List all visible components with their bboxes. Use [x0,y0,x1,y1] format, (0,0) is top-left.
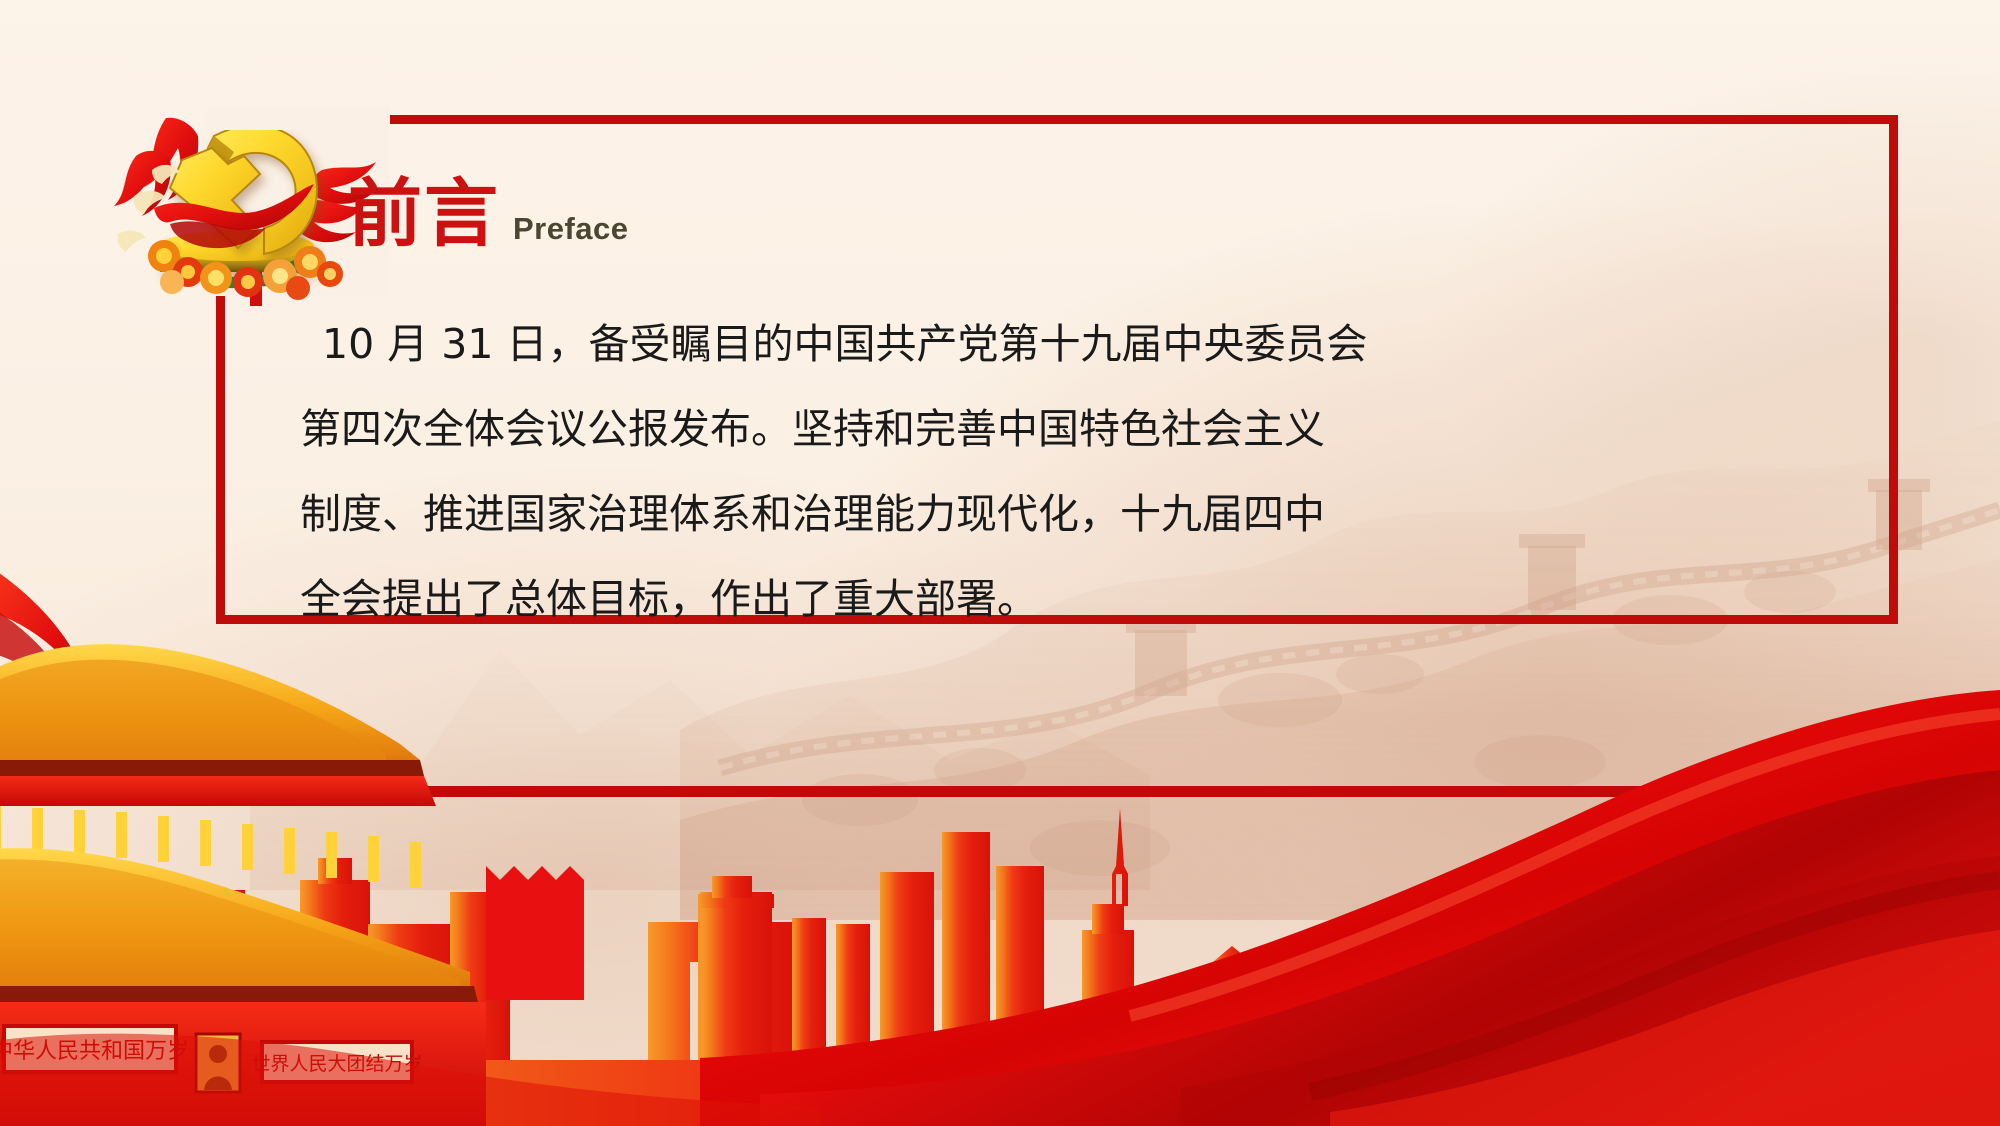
flag-pole [250,264,262,306]
paragraph-line: 制度、推进国家治理体系和治理能力现代化，十九届四中 [300,472,1352,557]
skyline-windows [1328,1066,1435,1077]
ribbon-front [154,184,314,230]
dove-icon [117,165,180,252]
page-title-chinese: 前言 [348,176,500,252]
paragraph-line: 全会提出了总体目标，作出了重大部署。 [300,557,1352,642]
gate-banner-label-2: 世界人民大团结万岁 [251,1053,422,1075]
city-skyline [0,808,2000,1126]
page-title-english: Preface [513,204,641,254]
frame-notch-top-mask [207,106,383,130]
red-flag [486,866,584,1000]
hammer-shape [170,148,260,248]
left-ribbon-flare [0,560,96,706]
tiananmen-gate: 中华人民共和国万岁 世界人民大团结万岁 [0,644,584,1126]
red-silk-wave [700,690,2000,1126]
preface-paragraph: 10 月 31 日，备受瞩目的中国共产党第十九届中央委员会 第四次全体会议公报发… [300,302,1352,642]
paragraph-line: 10 月 31 日，备受瞩目的中国共产党第十九届中央委员会 [300,302,1352,387]
paragraph-line: 第四次全体会议公报发布。坚持和完善中国特色社会主义 [300,387,1352,472]
slide-canvas: 前言 Preface 10 月 31 日，备受瞩目的中国共产党第十九届中央委员会… [0,0,2000,1126]
ribbon-flames [114,118,378,242]
flower-cluster [148,240,343,300]
gate-banner-label: 中华人民共和国万岁 [0,1039,189,1064]
horizon-rule [0,786,1880,797]
skyline-ground [0,1060,2000,1126]
sickle-shape [208,125,317,254]
